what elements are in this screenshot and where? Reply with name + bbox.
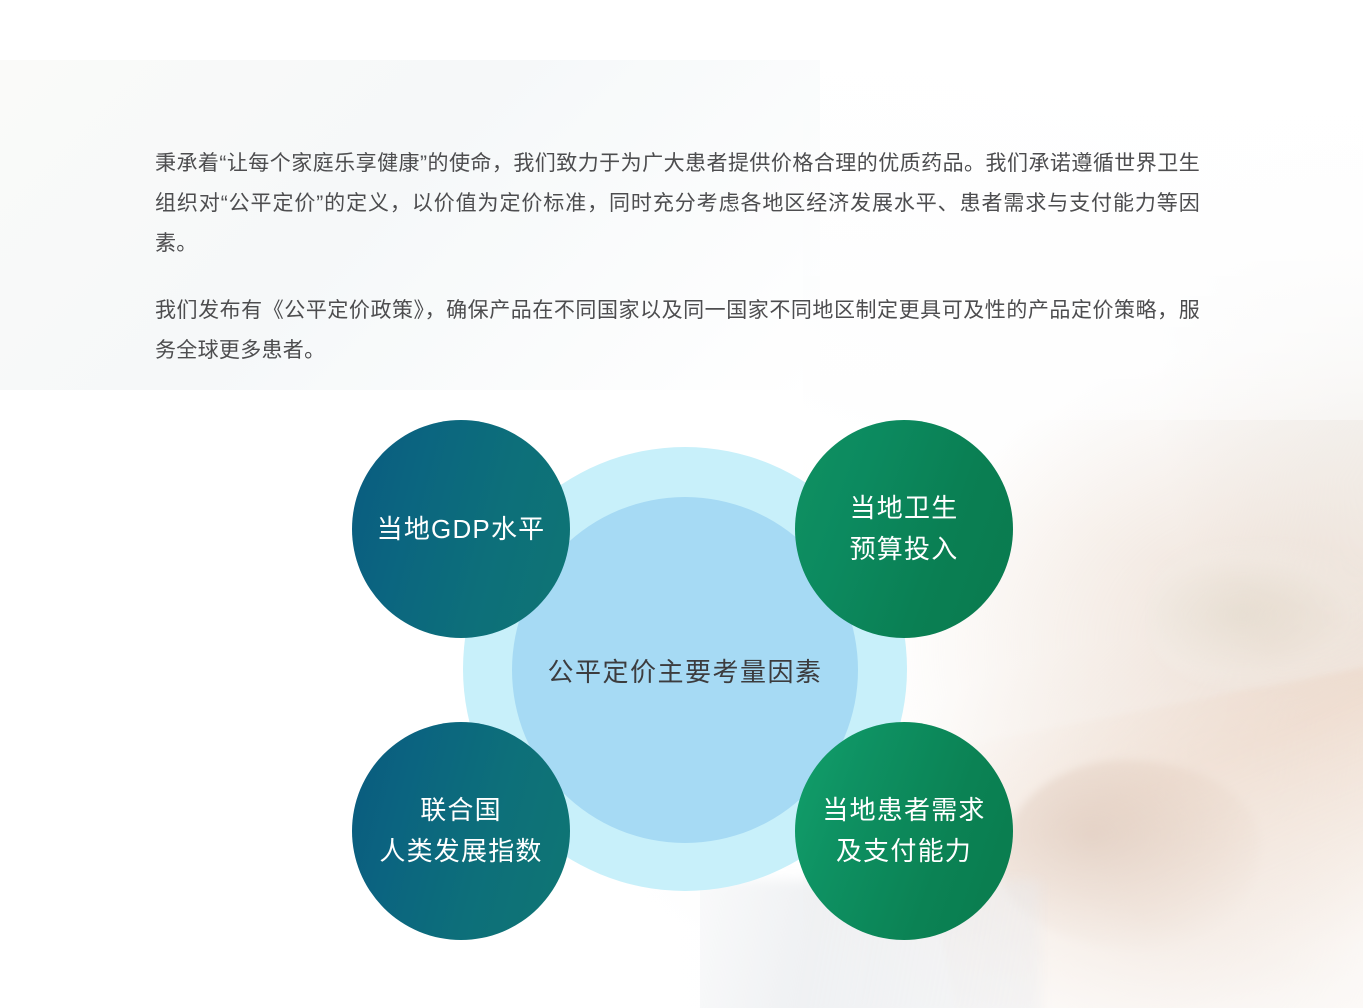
bubble-local-patient-demand-affordability[interactable]: 当地患者需求 及支付能力: [795, 722, 1013, 940]
bubble-label-line: 联合国: [420, 790, 502, 831]
bubble-label-line: 人类发展指数: [379, 831, 542, 872]
paragraph-fair-pricing-policy: 我们发布有《公平定价政策》，确保产品在不同国家以及同一国家不同地区制定更具可及性…: [155, 291, 1200, 371]
diagram-center-label: 公平定价主要考量因素: [547, 652, 822, 689]
bubble-label-line: 当地卫生: [850, 488, 959, 529]
bubble-label-line: 预算投入: [850, 529, 959, 570]
body-copy: 秉承着“让每个家庭乐享健康”的使命，我们致力于为广大患者提供价格合理的优质药品。…: [155, 144, 1200, 371]
bubble-local-health-budget[interactable]: 当地卫生 预算投入: [795, 420, 1013, 638]
paragraph-mission-statement: 秉承着“让每个家庭乐享健康”的使命，我们致力于为广大患者提供价格合理的优质药品。…: [155, 144, 1200, 264]
bubble-label-line: 当地患者需求: [822, 790, 985, 831]
bubble-un-human-development-index[interactable]: 联合国 人类发展指数: [352, 722, 570, 940]
page-root: 秉承着“让每个家庭乐享健康”的使命，我们致力于为广大患者提供价格合理的优质药品。…: [0, 0, 1363, 1008]
bubble-label-line: 及支付能力: [836, 831, 972, 872]
bubble-label-line: 当地GDP水平: [377, 509, 546, 550]
background-sleeve-cuff: [1150, 540, 1363, 690]
background-hand-knuckles: [1000, 760, 1260, 950]
bubble-local-gdp-level[interactable]: 当地GDP水平: [352, 420, 570, 638]
